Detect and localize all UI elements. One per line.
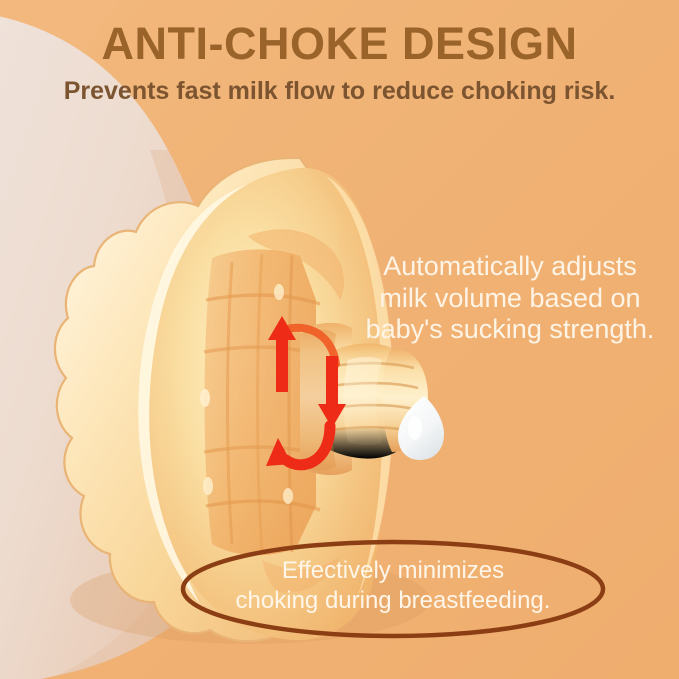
right-callout-line-2: milk volume based on	[349, 283, 671, 315]
page-title: ANTI-CHOKE DESIGN	[0, 20, 679, 67]
oval-callout-text: Effectively minimizes choking during bre…	[186, 556, 600, 616]
milk-droplet-highlight	[408, 416, 422, 440]
right-callout-line-3: baby's sucking strength.	[349, 314, 671, 346]
page-subtitle: Prevents fast milk flow to reduce chokin…	[0, 78, 679, 106]
oval-callout-line-2: choking during breastfeeding.	[186, 586, 600, 616]
right-callout-line-1: Automatically adjusts	[349, 251, 671, 283]
right-callout-text: Automatically adjusts milk volume based …	[349, 251, 671, 346]
oval-callout-line-1: Effectively minimizes	[186, 556, 600, 586]
product-feature-poster: ANTI-CHOKE DESIGN Prevents fast milk flo…	[0, 0, 679, 679]
